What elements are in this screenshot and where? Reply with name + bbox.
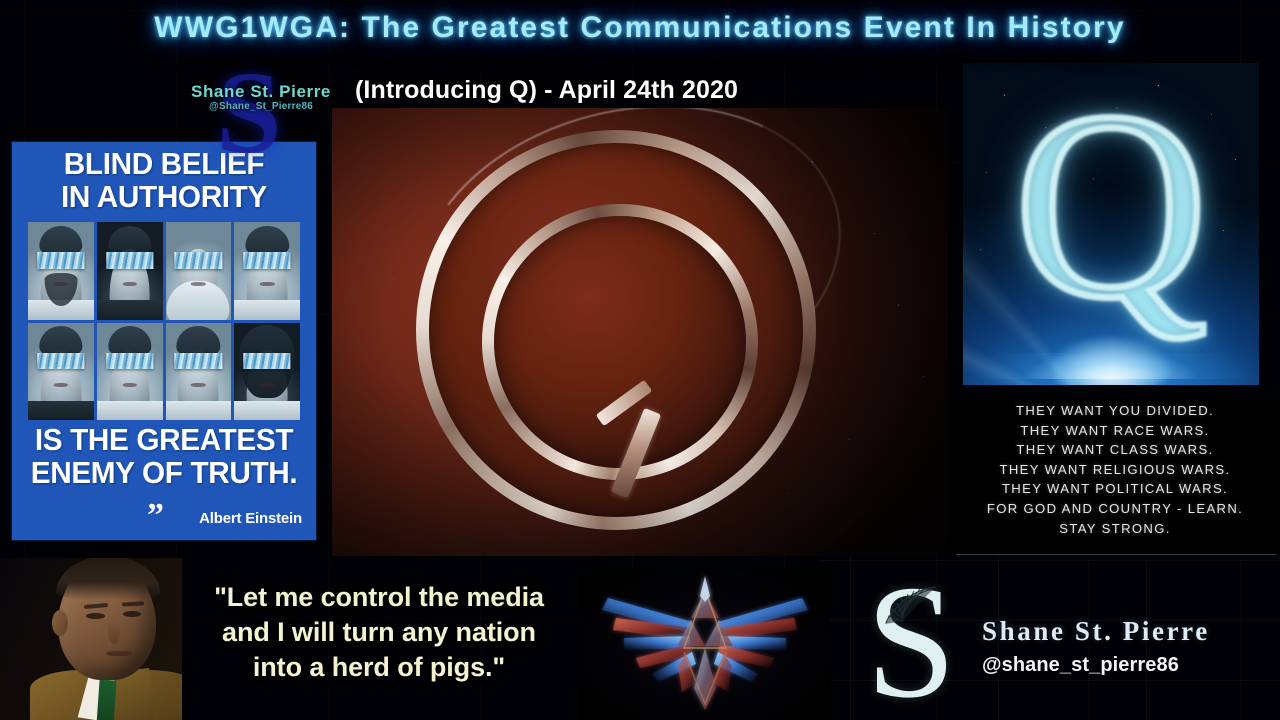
blindfolded-faces-grid [28, 222, 300, 420]
signature-name: Shane St. Pierre [982, 616, 1210, 647]
blindfold-icon [106, 252, 153, 269]
face-hair [108, 326, 151, 355]
einstein-subhead-line-1: IS THE GREATEST [18, 424, 310, 457]
face-shirt [97, 300, 163, 320]
face-mouth [260, 383, 274, 387]
media-quote-line-3: into a herd of pigs." [182, 650, 576, 685]
face-shirt [234, 300, 300, 320]
face-mouth [260, 282, 274, 286]
face-headscarf [167, 281, 230, 320]
blindfold-icon [175, 353, 222, 370]
face-shirt [166, 401, 232, 421]
watermark-handle: @Shane_St_Pierre86 [176, 101, 346, 112]
face-hair [39, 226, 82, 255]
face-man-dark-jacket [28, 323, 94, 421]
signature-block: S Shane St. Pierre @shane_st_pierre86 [856, 572, 1280, 720]
collage-canvas: WWG1WGA: The Greatest Communications Eve… [0, 0, 1280, 720]
face-shirt [97, 401, 163, 421]
media-quote-line-2: and I will turn any nation [182, 615, 576, 650]
face-mouth [122, 383, 136, 387]
metallic-q-image [332, 108, 948, 556]
divided-line: THEY WANT RELIGIOUS WARS. [950, 460, 1280, 480]
face-shirt [234, 401, 300, 421]
divider-line [956, 554, 1276, 555]
blindfold-icon [243, 252, 290, 269]
archival-portrait-photo [0, 558, 182, 720]
smoke-q-image: Q [963, 63, 1259, 385]
face-hair [39, 326, 82, 355]
winged-triforce-emblem [580, 570, 830, 720]
face-child-blonde [97, 323, 163, 421]
smoke-q-glyph: Q [963, 71, 1259, 339]
blindfold-icon [37, 252, 84, 269]
portrait-ear [52, 610, 68, 636]
top-watermark: S Shane St. Pierre @Shane_St_Pierre86 [176, 62, 346, 170]
feather-icon [878, 584, 940, 624]
blindfold-icon [243, 353, 290, 370]
divided-line: THEY WANT CLASS WARS. [950, 440, 1280, 460]
face-mouth [191, 282, 205, 286]
face-bearded-man [28, 222, 94, 320]
page-title: WWG1WGA: The Greatest Communications Eve… [0, 11, 1280, 45]
divided-line: THEY WANT YOU DIVIDED. [950, 401, 1280, 421]
portrait-eye-right [123, 611, 141, 617]
face-hair [108, 226, 151, 255]
media-control-quote: "Let me control the media and I will tur… [182, 580, 576, 685]
face-hair [177, 326, 220, 355]
face-young-man [97, 222, 163, 320]
page-subtitle: (Introducing Q) - April 24th 2020 [355, 76, 738, 105]
divided-line: FOR GOD AND COUNTRY - LEARN. [950, 499, 1280, 519]
face-shirt [28, 401, 94, 421]
einstein-subhead-line-2: ENEMY OF TRUTH. [18, 457, 310, 490]
einstein-attribution: Albert Einstein [199, 510, 302, 527]
einstein-subhead: IS THE GREATEST ENEMY OF TRUTH. [18, 424, 310, 490]
portrait-necktie [96, 679, 116, 720]
face-mouth [191, 383, 205, 387]
blindfold-icon [175, 252, 222, 269]
divided-text-block: THEY WANT YOU DIVIDED. THEY WANT RACE WA… [950, 398, 1280, 556]
watermark-s-monogram: S [216, 54, 282, 172]
blindfold-icon [106, 353, 153, 370]
einstein-headline-line-2: IN AUTHORITY [18, 181, 310, 214]
face-mouth [54, 282, 68, 286]
divided-line: THEY WANT POLITICAL WARS. [950, 479, 1280, 499]
triforce-emblem-icon [580, 570, 830, 720]
portrait-nose [108, 620, 120, 644]
watermark-name: Shane St. Pierre [176, 82, 346, 102]
face-mouth [122, 282, 136, 286]
signature-handle: @shane_st_pierre86 [982, 654, 1179, 677]
metallic-q-inner-ring [482, 204, 758, 480]
face-woman-headscarf [166, 222, 232, 320]
quote-mark-icon: ” [147, 499, 164, 533]
face-mouth [54, 383, 68, 387]
face-man-white-shirt [234, 222, 300, 320]
portrait-eye-left [86, 613, 105, 619]
divided-line: THEY WANT RACE WARS. [950, 421, 1280, 441]
media-quote-line-1: "Let me control the media [182, 580, 576, 615]
blindfold-icon [37, 353, 84, 370]
face-hair [245, 226, 288, 255]
divided-line: STAY STRONG. [950, 519, 1280, 539]
face-woman-long-hair [234, 323, 300, 421]
face-child-teal-shirt [166, 323, 232, 421]
portrait-mouth [106, 651, 132, 656]
einstein-quote-card: BLIND BELIEF IN AUTHORITY [12, 142, 316, 540]
